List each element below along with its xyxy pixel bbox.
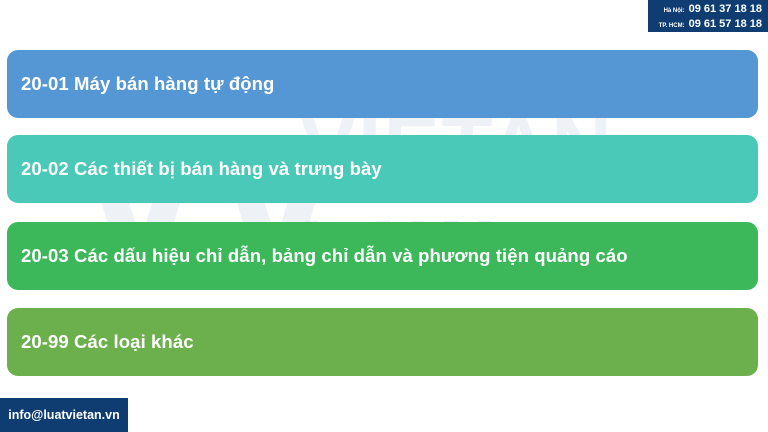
footer-email-box[interactable]: info@luatvietan.vn <box>0 398 128 432</box>
category-bar-20-99[interactable]: 20-99 Các loại khác <box>7 308 758 376</box>
category-bar-label: 20-99 Các loại khác <box>21 331 194 353</box>
category-bar-label: 20-02 Các thiết bị bán hàng và trưng bày <box>21 158 382 180</box>
contact-label-hanoi: Hà Nội: <box>664 8 685 14</box>
category-bar-list: 20-01 Máy bán hàng tự động 20-02 Các thi… <box>0 0 768 432</box>
contact-row-hcm: TP. HCM: 09 61 57 18 18 <box>652 18 762 32</box>
contact-number-hcm[interactable]: 09 61 57 18 18 <box>689 18 762 30</box>
contact-info-box: Hà Nội: 09 61 37 18 18 TP. HCM: 09 61 57… <box>648 0 768 32</box>
category-bar-20-03[interactable]: 20-03 Các dấu hiệu chỉ dẫn, bảng chỉ dẫn… <box>7 222 758 290</box>
contact-row-hanoi: Hà Nội: 09 61 37 18 18 <box>652 3 762 17</box>
category-bar-20-02[interactable]: 20-02 Các thiết bị bán hàng và trưng bày <box>7 135 758 203</box>
contact-number-hanoi[interactable]: 09 61 37 18 18 <box>689 3 762 15</box>
category-bar-label: 20-01 Máy bán hàng tự động <box>21 73 274 95</box>
infographic-page: ∨∨ VIETAN LAW Hà Nội: 09 61 37 18 18 TP.… <box>0 0 768 432</box>
footer-email-text: info@luatvietan.vn <box>8 408 120 422</box>
category-bar-label: 20-03 Các dấu hiệu chỉ dẫn, bảng chỉ dẫn… <box>21 245 628 267</box>
category-bar-20-01[interactable]: 20-01 Máy bán hàng tự động <box>7 50 758 118</box>
contact-label-hcm: TP. HCM: <box>659 23 685 29</box>
